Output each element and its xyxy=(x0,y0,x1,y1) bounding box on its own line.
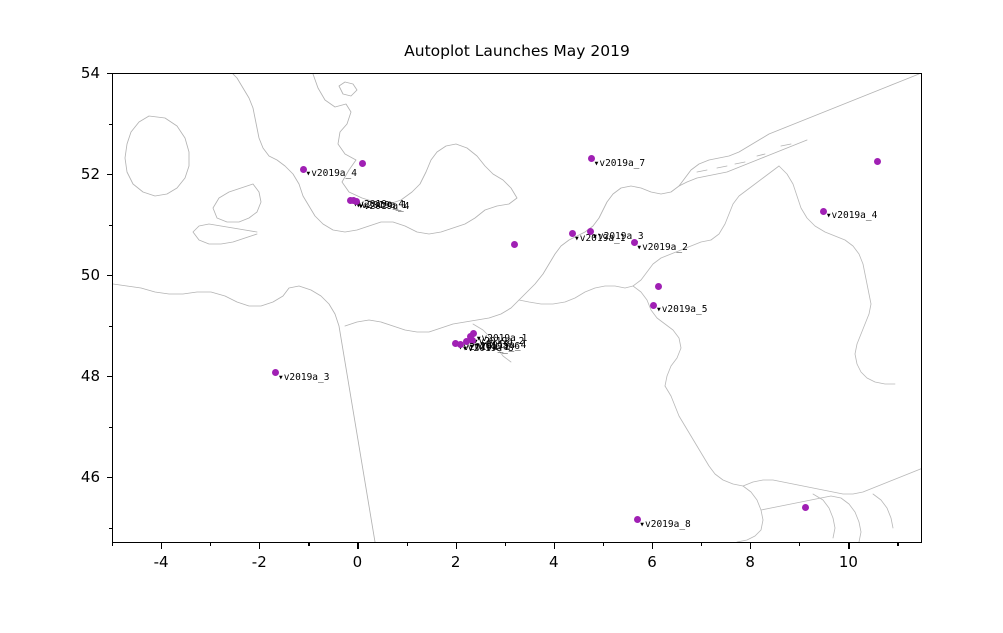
y-tick-label: 54 xyxy=(50,64,100,82)
x-tick-minor xyxy=(505,543,506,546)
x-tick-major xyxy=(456,543,457,549)
x-tick-minor xyxy=(603,543,604,546)
y-tick-minor xyxy=(109,427,112,428)
x-tick-major xyxy=(357,543,358,549)
x-tick-label: 0 xyxy=(353,553,363,571)
data-point-label: ▾v2019a_3 xyxy=(278,373,329,383)
y-tick-major xyxy=(107,73,113,74)
y-tick-major xyxy=(107,477,113,478)
y-tick-label: 46 xyxy=(50,468,100,486)
figure-canvas: Autoplot Launches May 2019 xyxy=(0,0,1003,633)
x-tick-minor xyxy=(897,543,898,546)
data-point-label: ▾v2019a_4 xyxy=(826,211,877,221)
x-tick-major xyxy=(750,543,751,549)
data-point-label: ▾v2019a_4 xyxy=(305,169,356,179)
x-tick-label: -2 xyxy=(252,553,267,571)
x-tick-label: 4 xyxy=(549,553,559,571)
map-coastlines xyxy=(113,74,922,543)
x-tick-label: 2 xyxy=(451,553,461,571)
x-tick-major xyxy=(161,543,162,549)
x-tick-minor xyxy=(308,543,309,546)
y-tick-minor xyxy=(109,528,112,529)
x-tick-label: 10 xyxy=(839,553,858,571)
y-tick-minor xyxy=(109,225,112,226)
y-tick-minor xyxy=(109,326,112,327)
y-tick-major xyxy=(107,174,113,175)
data-point-label: ▾v2019a_7 xyxy=(594,159,645,169)
x-tick-minor xyxy=(210,543,211,546)
data-point-label: ▾v2019a_2 xyxy=(636,243,687,253)
y-tick-label: 50 xyxy=(50,266,100,284)
x-tick-minor xyxy=(701,543,702,546)
data-point-label: ▾v2019a_8 xyxy=(462,344,513,354)
data-point-label: ▾v2019a_4 xyxy=(358,202,409,212)
x-tick-label: 6 xyxy=(647,553,657,571)
data-point-marker[interactable] xyxy=(802,504,809,511)
x-tick-label: 8 xyxy=(745,553,755,571)
x-tick-minor xyxy=(112,543,113,546)
y-tick-label: 48 xyxy=(50,367,100,385)
x-tick-major xyxy=(554,543,555,549)
x-tick-major xyxy=(848,543,849,549)
y-tick-minor xyxy=(109,124,112,125)
data-point-label: ▾v2019a_8 xyxy=(639,520,690,530)
x-tick-minor xyxy=(407,543,408,546)
y-tick-major xyxy=(107,275,113,276)
x-tick-minor xyxy=(799,543,800,546)
x-tick-major xyxy=(259,543,260,549)
data-point-marker[interactable] xyxy=(511,241,518,248)
map-plot-area[interactable]: ▾v2019a_4▾v2019a_4▾v2019a_1▾v2019a_4▾v20… xyxy=(112,73,922,543)
x-tick-label: -4 xyxy=(154,553,169,571)
page-title: Autoplot Launches May 2019 xyxy=(112,42,922,60)
y-tick-label: 52 xyxy=(50,165,100,183)
data-point-label: ▾v2019a_5 xyxy=(656,305,707,315)
x-tick-major xyxy=(652,543,653,549)
y-tick-major xyxy=(107,376,113,377)
